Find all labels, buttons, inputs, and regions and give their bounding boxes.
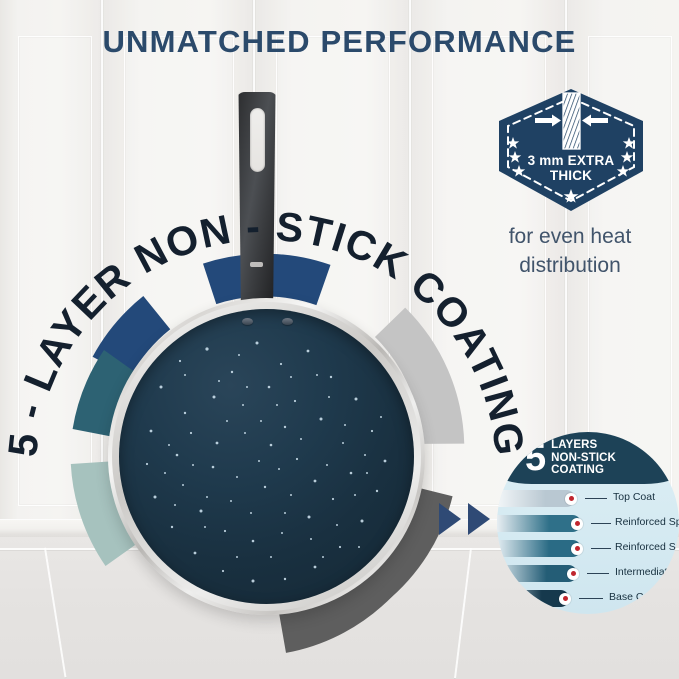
infographic-canvas: UNMATCHED PERFORMANCE <box>0 0 679 679</box>
thickness-bar-icon <box>563 93 580 149</box>
legend-layer-marker-dot <box>575 546 580 551</box>
badge-title: 3 mm EXTRA THICK <box>493 153 649 183</box>
pan-cooking-surface <box>119 309 414 604</box>
legend-header-line1: LAYERS <box>551 439 616 452</box>
badge-caption-line1: for even heat <box>470 222 670 251</box>
legend-layer-marker <box>567 568 579 580</box>
rivet-icon <box>282 318 293 325</box>
legend-circle-background: 5 LAYERS NON-STICK COATING Top CoatReinf… <box>497 432 679 614</box>
legend-layer-marker-dot <box>569 496 574 501</box>
legend-header-line3: COATING <box>551 464 616 477</box>
legend-layer-row: Top Coat <box>497 486 679 511</box>
coating-layers-legend: 5 LAYERS NON-STICK COATING Top CoatReinf… <box>497 432 679 614</box>
legend-layer-bar <box>497 490 575 507</box>
legend-layer-marker-dot <box>563 596 568 601</box>
legend-header-text: LAYERS NON-STICK COATING <box>551 439 616 477</box>
legend-layer-count: 5 <box>525 439 545 477</box>
hanging-hole-icon <box>250 108 265 172</box>
legend-layer-row: Intermediate Coat <box>497 561 679 586</box>
badge-title-line2: THICK <box>493 168 649 183</box>
handle-notch <box>250 262 263 267</box>
triangle-right-icon <box>439 503 461 535</box>
pan-rim <box>108 298 425 615</box>
triangle-right-icon <box>468 503 490 535</box>
badge-title-line1: 3 mm EXTRA <box>493 153 649 168</box>
legend-leader-line <box>585 498 607 500</box>
legend-layer-bar <box>497 515 581 532</box>
legend-layer-row: Base Coat <box>497 586 679 611</box>
legend-leader-line <box>587 573 609 575</box>
legend-layer-marker <box>571 518 583 530</box>
legend-leader-line <box>579 598 603 600</box>
legend-layer-label: Base Coat <box>609 591 658 603</box>
legend-header-line2: NON-STICK <box>551 452 616 465</box>
legend-layer-marker <box>565 493 577 505</box>
legend-layer-row: Reinforced Spatter Coat <box>497 536 679 561</box>
legend-layer-label: Reinforced Spatter Coat <box>615 516 679 528</box>
legend-layer-label: Intermediate Coat <box>615 566 679 578</box>
thickness-badge: 3 mm EXTRA THICK <box>493 87 649 213</box>
legend-layer-marker-dot <box>571 571 576 576</box>
legend-layer-label: Top Coat <box>613 491 655 503</box>
badge-caption-line2: distribution <box>470 251 670 280</box>
rivet-icon <box>242 318 253 325</box>
legend-layer-bar <box>497 565 577 582</box>
legend-layer-marker <box>571 543 583 555</box>
legend-layer-rows: Top CoatReinforced Spatter CoatReinforce… <box>497 486 679 611</box>
legend-layer-label: Reinforced Spatter Coat <box>615 541 679 553</box>
legend-layer-bar <box>497 540 581 557</box>
legend-header: 5 LAYERS NON-STICK COATING <box>497 432 679 484</box>
hexagon-badge-shape <box>493 87 649 213</box>
legend-layer-row: Reinforced Spatter Coat <box>497 511 679 536</box>
badge-caption: for even heat distribution <box>470 222 670 280</box>
legend-leader-line <box>591 523 611 525</box>
legend-leader-line <box>591 548 611 550</box>
legend-layer-marker-dot <box>575 521 580 526</box>
speckle-texture <box>119 309 414 604</box>
legend-layer-marker <box>559 593 571 605</box>
